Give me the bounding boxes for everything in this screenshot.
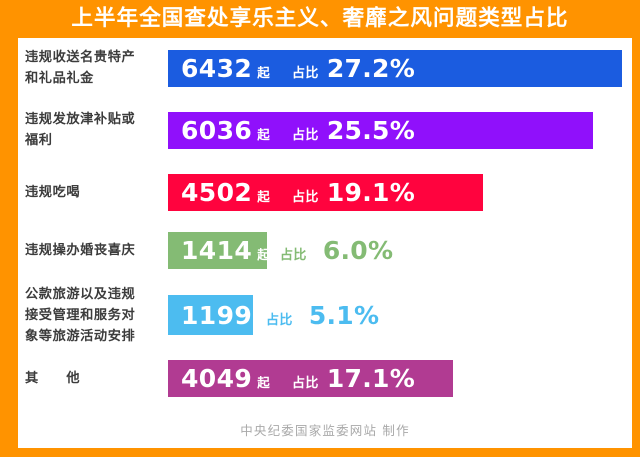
bar-value-unit: 起 (257, 124, 270, 143)
title-band: 上半年全国查处享乐主义、奢靡之风问题类型占比 (0, 0, 640, 38)
chart-row: 违规操办婚丧喜庆1414起占比6.0% (18, 226, 632, 274)
bar-area: 4502起占比19.1% (168, 168, 632, 216)
bar-value-unit: 起 (257, 186, 270, 205)
bar-inline-labels: 6432起占比27.2% (168, 54, 415, 83)
bar-share-label: 占比 (280, 244, 307, 263)
bar-value-unit: 起 (257, 244, 270, 263)
category-label: 公款旅游以及违规接受管理和服务对象等旅游活动安排 (25, 284, 160, 347)
bar-percent-value: 17.1% (327, 364, 415, 393)
category-label-line: 其 他 (25, 368, 160, 389)
category-label: 其 他 (25, 368, 160, 389)
bar-chart: 违规收送名贵特产和礼品礼金6432起占比27.2%违规发放津补贴或福利6036起… (18, 38, 632, 410)
bar-outside-labels: 占比6.0% (280, 236, 393, 265)
bar-share-label: 占比 (266, 309, 293, 328)
chart-row: 公款旅游以及违规接受管理和服务对象等旅游活动安排1199起占比5.1% (18, 284, 632, 346)
category-label: 违规发放津补贴或福利 (25, 109, 160, 151)
category-label-line: 和礼品礼金 (25, 68, 160, 89)
bar-share-label: 占比 (292, 124, 319, 143)
bar-value-unit: 起 (257, 62, 270, 81)
category-label: 违规收送名贵特产和礼品礼金 (25, 47, 160, 89)
category-label-line: 违规吃喝 (25, 182, 160, 203)
chart-row: 其 他4049起占比17.1% (18, 354, 632, 402)
bar-value-count: 4502 (181, 178, 252, 207)
page-title: 上半年全国查处享乐主义、奢靡之风问题类型占比 (71, 8, 568, 30)
category-label-line: 违规发放津补贴或 (25, 109, 160, 130)
category-label-line: 违规操办婚丧喜庆 (25, 240, 160, 261)
category-label-line: 福利 (25, 130, 160, 151)
bar[interactable]: 1199起 (168, 295, 253, 335)
bar-value-count: 6432 (181, 54, 252, 83)
bar-area: 6036起占比25.5% (168, 106, 632, 154)
bar-inline-labels: 4502起占比19.1% (168, 178, 415, 207)
bar-area: 1199起占比5.1% (168, 284, 632, 346)
bar-percent-value: 6.0% (323, 236, 394, 265)
bar-area: 1414起占比6.0% (168, 226, 632, 274)
bar-outside-labels: 占比5.1% (266, 301, 379, 330)
bar-percent-value: 19.1% (327, 178, 415, 207)
bar[interactable]: 1414起 (168, 232, 267, 269)
bar[interactable]: 4502起占比19.1% (168, 174, 483, 211)
bar-area: 4049起占比17.1% (168, 354, 632, 402)
category-label: 违规吃喝 (25, 182, 160, 203)
bar-value-count: 1414 (181, 236, 252, 265)
bar-inline-labels: 4049起占比17.1% (168, 364, 415, 393)
chart-row: 违规收送名贵特产和礼品礼金6432起占比27.2% (18, 44, 632, 92)
bar[interactable]: 6432起占比27.2% (168, 50, 622, 87)
category-label: 违规操办婚丧喜庆 (25, 240, 160, 261)
footer-credit: 中央纪委国家监委网站 制作 (240, 420, 410, 439)
bar-share-label: 占比 (292, 186, 319, 205)
category-label-line: 违规收送名贵特产 (25, 47, 160, 68)
bar[interactable]: 4049起占比17.1% (168, 360, 453, 397)
bar-percent-value: 27.2% (327, 54, 415, 83)
bar-area: 6432起占比27.2% (168, 44, 632, 92)
bar-value-count: 4049 (181, 364, 252, 393)
footer: 中央纪委国家监委网站 制作 (18, 410, 632, 448)
bar-value-count: 6036 (181, 116, 252, 145)
category-label-line: 象等旅游活动安排 (25, 326, 160, 347)
bar-percent-value: 5.1% (309, 301, 380, 330)
category-label-line: 公款旅游以及违规 (25, 284, 160, 305)
bar-inline-labels: 6036起占比25.5% (168, 116, 415, 145)
bar-share-label: 占比 (292, 62, 319, 81)
bar-inline-labels: 1414起 (168, 236, 270, 265)
bar[interactable]: 6036起占比25.5% (168, 112, 593, 149)
chart-row: 违规发放津补贴或福利6036起占比25.5% (18, 106, 632, 154)
category-label-line: 接受管理和服务对 (25, 305, 160, 326)
bar-percent-value: 25.5% (327, 116, 415, 145)
bar-value-unit: 起 (257, 372, 270, 391)
bar-value-count: 1199 (181, 301, 252, 330)
infographic-page: 上半年全国查处享乐主义、奢靡之风问题类型占比 违规收送名贵特产和礼品礼金6432… (0, 0, 640, 457)
chart-card: 违规收送名贵特产和礼品礼金6432起占比27.2%违规发放津补贴或福利6036起… (18, 38, 632, 448)
bar-inline-labels: 1199起 (168, 301, 270, 330)
bar-share-label: 占比 (292, 372, 319, 391)
chart-row: 违规吃喝4502起占比19.1% (18, 168, 632, 216)
